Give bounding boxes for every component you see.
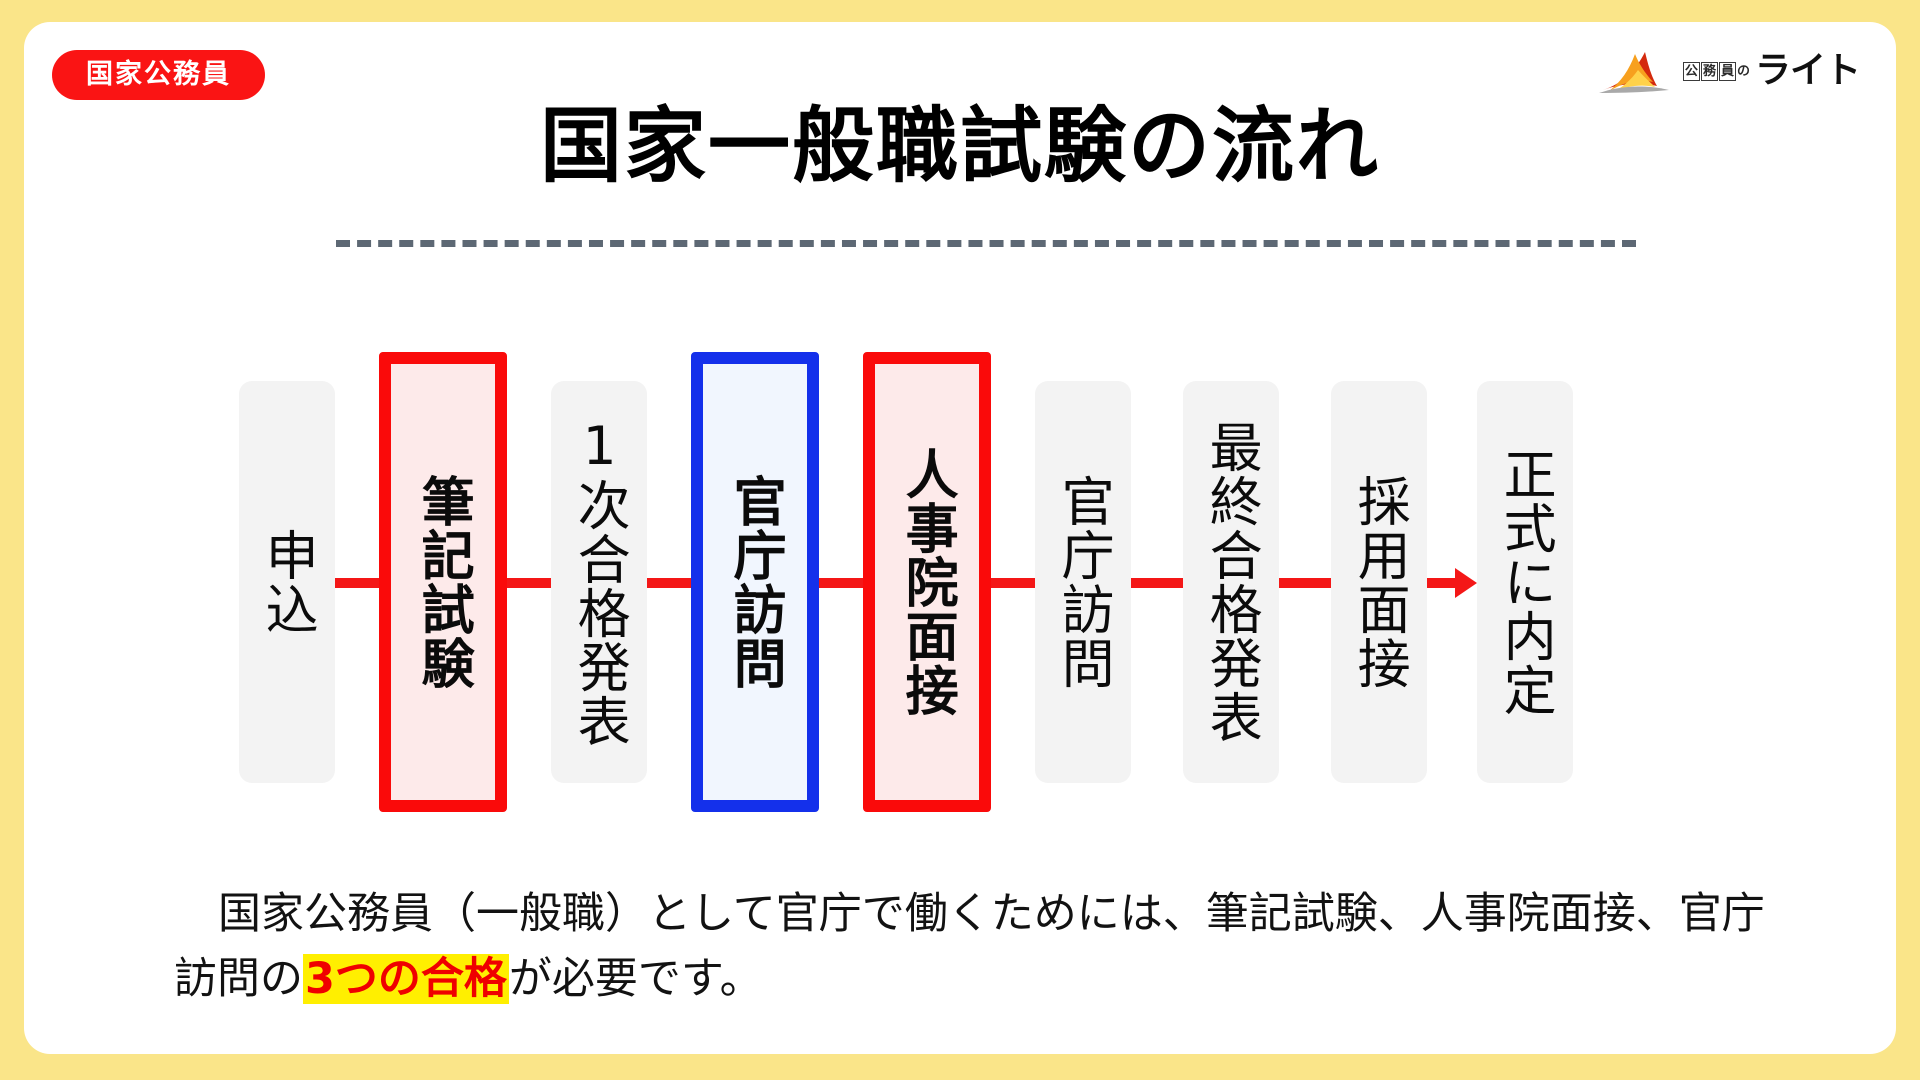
- swoosh-logo-icon: [1595, 48, 1673, 94]
- flow-step-4: 人事院面接: [863, 322, 991, 842]
- category-badge: 国家公務員: [52, 50, 265, 100]
- connector-3: [819, 578, 863, 588]
- page-frame: 国家公務員 公 務 員 の ライト 国家一般職試験の流れ: [0, 0, 1920, 1080]
- arrow-shaft: [1427, 578, 1455, 588]
- content-card: 国家公務員 公 務 員 の ライト 国家一般職試験の流れ: [24, 22, 1896, 1054]
- flow-step-1: 筆記試験: [379, 322, 507, 842]
- step-box-saishuu-goukaku-happyou: 最終合格発表: [1183, 381, 1279, 783]
- connector-5: [1131, 578, 1183, 588]
- caption-part2: が必要です。: [509, 954, 763, 1004]
- flow-step-5: 官庁訪問: [1035, 322, 1131, 842]
- brand-name: ライト: [1755, 53, 1860, 89]
- brand-logo: 公 務 員 の ライト: [1595, 48, 1860, 94]
- connector-4: [991, 578, 1035, 588]
- step-box-seishiki-ni-naitei: 正式に内定: [1477, 381, 1573, 783]
- brand-sub-particle: の: [1737, 65, 1750, 78]
- arrow-head: [1455, 568, 1477, 598]
- flow-step-7: 採用面接: [1331, 322, 1427, 842]
- brand-text: 公 務 員 の ライト: [1683, 53, 1860, 89]
- connector-0: [335, 578, 379, 588]
- connector-6: [1279, 578, 1331, 588]
- flow-step-6: 最終合格発表: [1183, 322, 1279, 842]
- flow-step-2: 1次合格発表: [551, 322, 647, 842]
- step-box-jinjiin-mensetsu: 人事院面接: [863, 352, 991, 812]
- connector-arrow-icon: [1427, 568, 1477, 598]
- flow-step-8: 正式に内定: [1477, 322, 1573, 842]
- connector-1: [507, 578, 551, 588]
- step-box-saiyou-mensetsu: 採用面接: [1331, 381, 1427, 783]
- caption-highlight: 3つの合格: [303, 954, 509, 1004]
- brand-subtext: 公 務 員 の: [1683, 62, 1750, 81]
- step-box-ichiji-goukaku-happyou: 1次合格発表: [551, 381, 647, 783]
- caption-text: 国家公務員（一般職）として官庁で働くためには、筆記試験、人事院面接、官庁訪問の3…: [174, 882, 1794, 1011]
- step-box-moushikomi: 申込: [239, 381, 335, 783]
- flow-step-3: 官庁訪問: [691, 322, 819, 842]
- step-box-kanchou-houmon-1: 官庁訪問: [691, 352, 819, 812]
- flow-step-0: 申込: [239, 322, 335, 842]
- brand-sub-char-1: 務: [1701, 62, 1718, 81]
- step-box-kanchou-houmon-2: 官庁訪問: [1035, 381, 1131, 783]
- brand-sub-char-0: 公: [1683, 62, 1700, 81]
- brand-sub-char-2: 員: [1719, 62, 1736, 81]
- flow-diagram: 申込 筆記試験 1次合格発表 官庁訪問 人事院面接 官庁訪問: [239, 322, 1739, 842]
- page-title: 国家一般職試験の流れ: [24, 100, 1896, 194]
- connector-2: [647, 578, 691, 588]
- step-box-hikki-shiken: 筆記試験: [379, 352, 507, 812]
- title-divider: [336, 240, 1636, 247]
